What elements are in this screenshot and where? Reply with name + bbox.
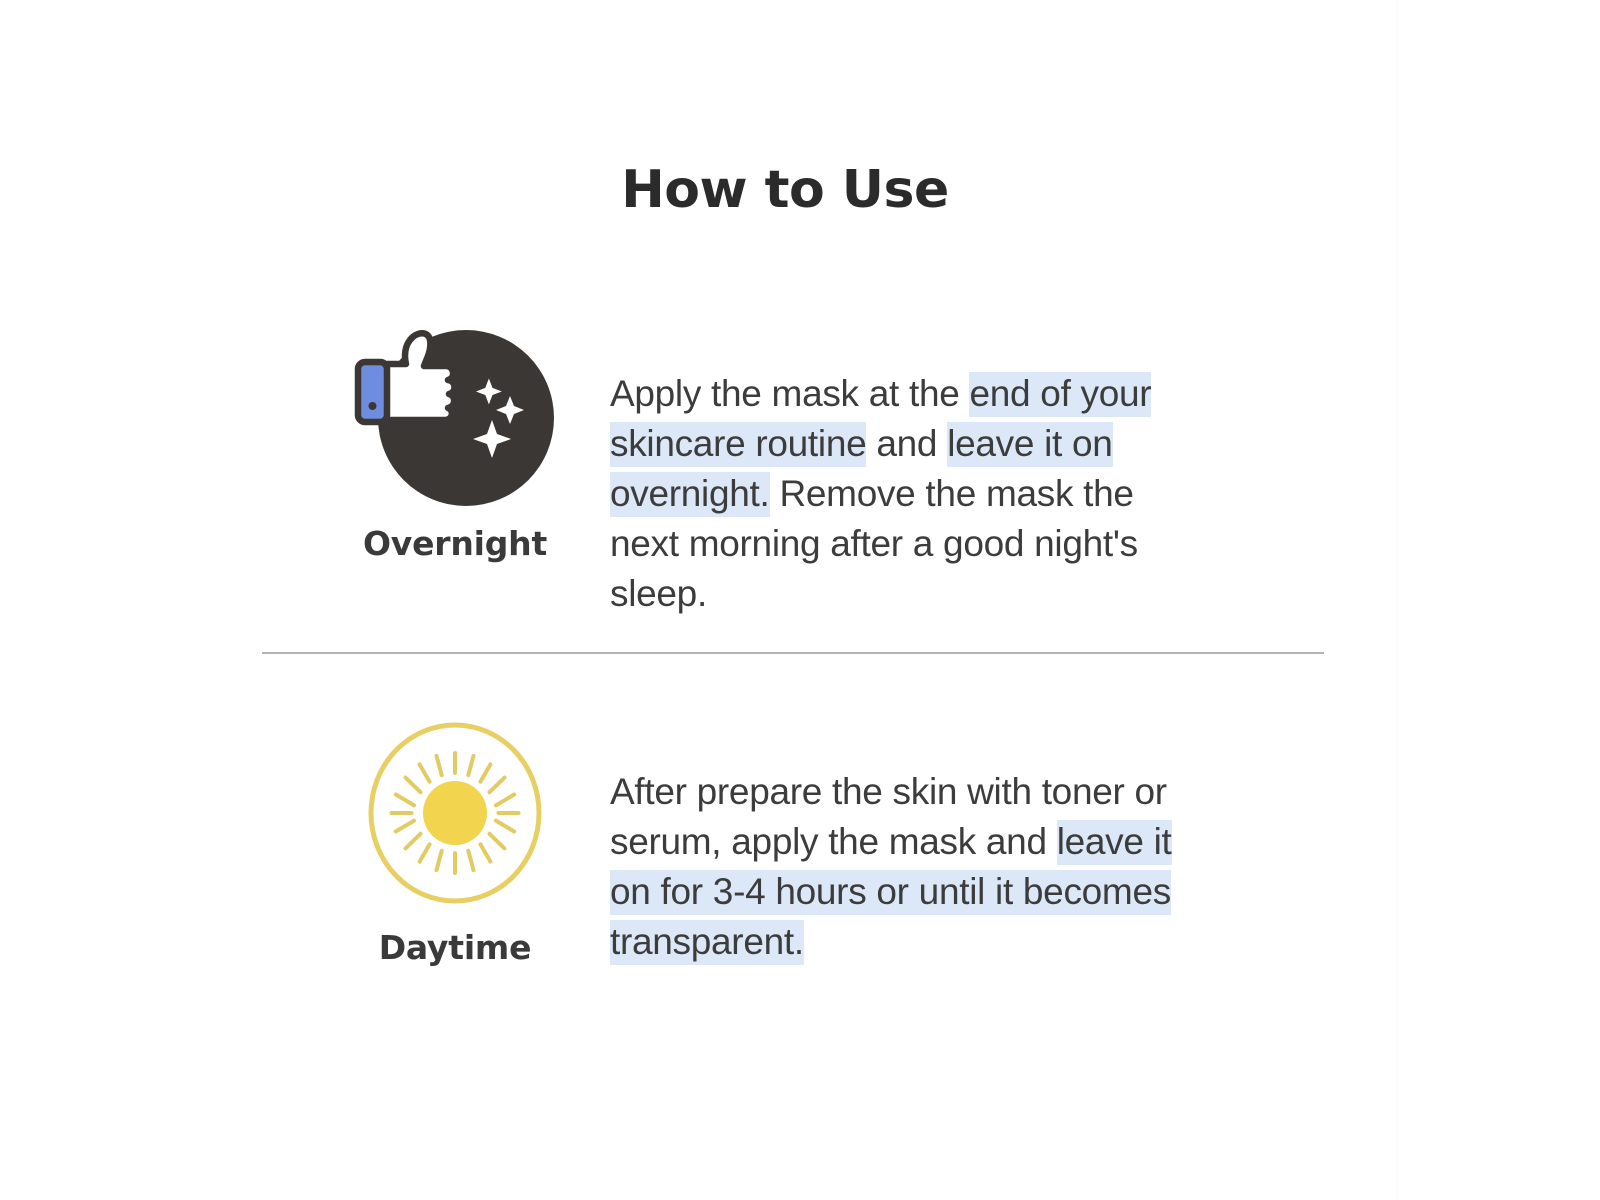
daytime-label: Daytime: [379, 928, 532, 967]
daytime-instruction-text: After prepare the skin with toner or ser…: [610, 767, 1190, 967]
section-daytime: Daytime After prepare the skin with tone…: [300, 718, 1190, 1004]
daytime-text-column: After prepare the skin with toner or ser…: [610, 718, 1190, 1004]
section-overnight: Overnight Apply the mask at the end of y…: [300, 320, 1190, 656]
section-divider: [262, 652, 1324, 654]
overnight-text-column: Apply the mask at the end of your skinca…: [610, 320, 1190, 656]
sun-disc: [423, 781, 487, 845]
overnight-label: Overnight: [363, 524, 547, 563]
daytime-icon-wrap: [340, 718, 570, 908]
page-title: How to Use: [0, 160, 1570, 220]
overnight-moon-thumbsup-icon: [340, 320, 570, 510]
overnight-icon-column: Overnight: [300, 320, 610, 563]
how-to-use-page: How to Use: [0, 0, 1600, 1200]
text-segment: Apply the mask at the: [610, 373, 969, 414]
overnight-instruction-text: Apply the mask at the end of your skinca…: [610, 369, 1190, 619]
daytime-sun-icon: [340, 718, 570, 908]
text-segment: and: [866, 423, 947, 464]
page-right-edge: [1397, 0, 1398, 1200]
daytime-icon-column: Daytime: [300, 718, 610, 967]
overnight-icon-wrap: [340, 320, 570, 510]
